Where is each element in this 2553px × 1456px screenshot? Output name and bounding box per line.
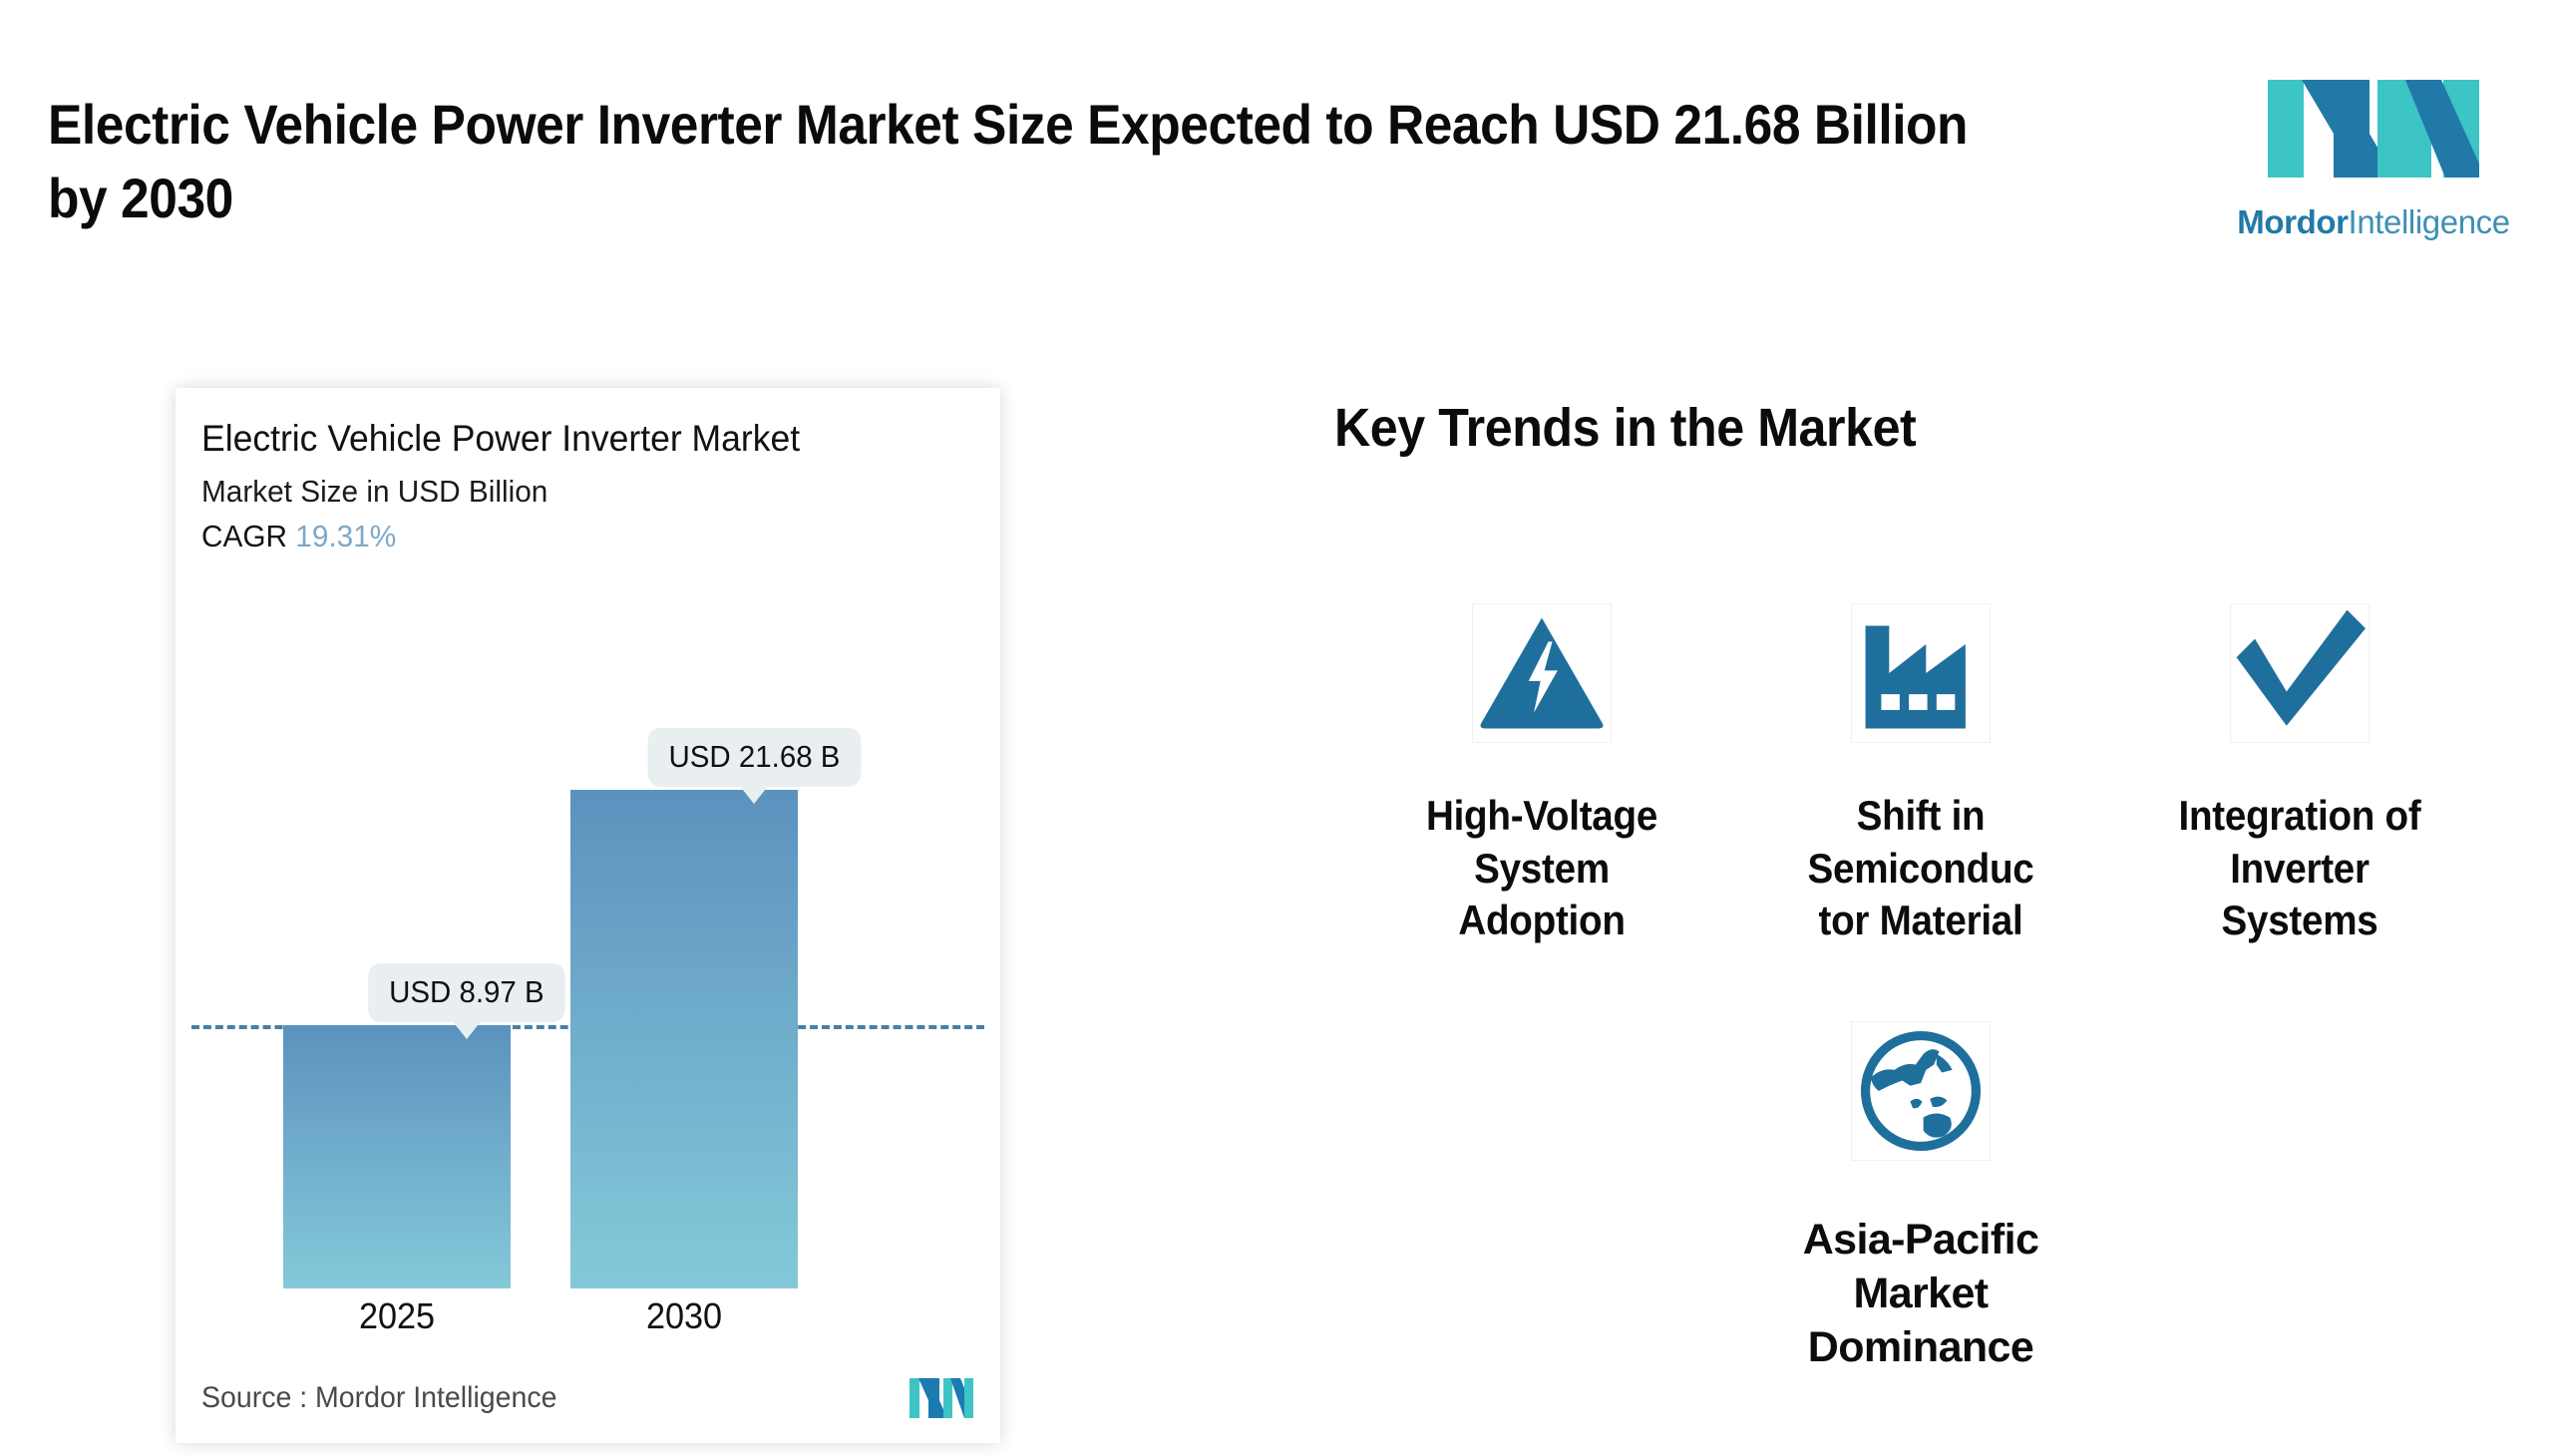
trend-label: High-Voltage System Adoption [1404,790,1679,947]
cagr-value: 19.31% [295,519,396,553]
mordor-intelligence-logo-icon [2266,68,2481,189]
bar-2030 [570,790,798,1288]
source-label: Source : Mordor Intelligence [201,1381,556,1415]
trend-item-semiconductor: Shift in Semiconduc tor Material [1771,594,2070,947]
trend-label: Shift in Semiconduc tor Material [1783,790,2058,947]
factory-icon [1855,607,1987,739]
checkmark-icon [2234,607,2366,739]
market-size-chart-card: Electric Vehicle Power Inverter Market M… [176,388,1000,1443]
trend-icon-box [1463,594,1621,752]
infographic-page: Electric Vehicle Power Inverter Market S… [0,0,2553,1456]
trend-item-integration: Integration of Inverter Systems [2150,594,2449,947]
globe-asia-pacific-icon [1855,1025,1987,1157]
trend-icon-box [2221,594,2378,752]
page-title: Electric Vehicle Power Inverter Market S… [48,88,1993,235]
source-row: Source : Mordor Intelligence [201,1375,974,1421]
data-label-2030: USD 21.68 B [648,728,862,787]
data-label-2025: USD 8.97 B [368,963,564,1022]
key-trends-heading: Key Trends in the Market [1334,397,1916,459]
cagr-label: CAGR [201,519,287,553]
brand-wordmark: MordorIntelligence [2237,203,2509,241]
mordor-intelligence-mark-icon [909,1375,974,1421]
trend-icon-box [1842,594,2000,752]
x-axis-label-2030: 2030 [576,1295,793,1337]
trend-label: Integration of Inverter Systems [2162,790,2437,947]
chart-subtitle: Market Size in USD Billion [201,474,547,510]
brand-logo: MordorIntelligence [2206,0,2541,309]
brand-name-light: Intelligence [2349,203,2510,240]
chart-cagr: CAGR 19.31% [201,519,396,554]
trend-item-asia-pacific: Asia-Pacific Market Dominance [1771,1012,2070,1374]
bar-chart-plot-area: USD 8.97 B USD 21.68 B 2025 2030 [176,587,1000,1335]
x-axis-label-2025: 2025 [289,1295,506,1337]
trend-item-high-voltage: High-Voltage System Adoption [1392,594,1691,947]
trend-icon-box [1842,1012,2000,1170]
high-voltage-triangle-icon [1476,607,1608,739]
brand-name-bold: Mordor [2237,203,2348,240]
chart-title: Electric Vehicle Power Inverter Market [201,418,800,460]
trend-label: Asia-Pacific Market Dominance [1771,1214,2070,1374]
bar-2025 [283,1025,511,1288]
